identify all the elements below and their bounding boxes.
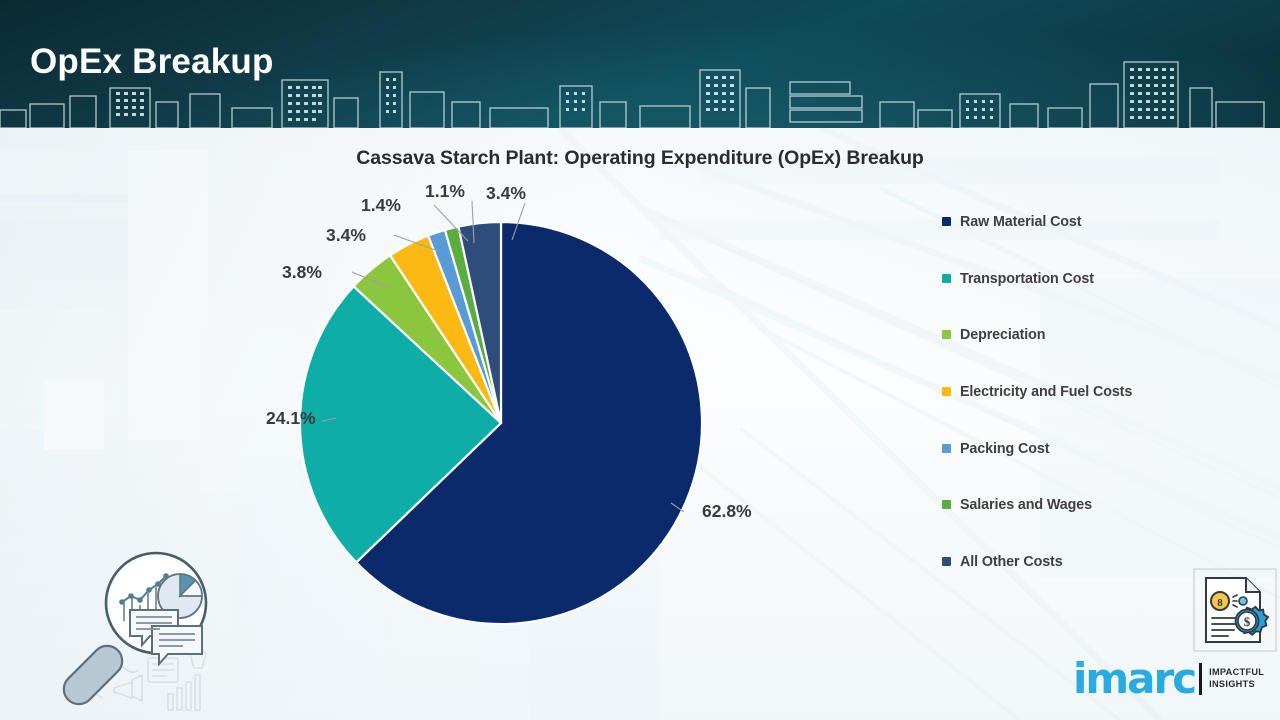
legend-item-label: Depreciation bbox=[960, 325, 1045, 346]
svg-text:8: 8 bbox=[1217, 597, 1223, 609]
legend-item[interactable]: Salaries and Wages bbox=[942, 495, 1152, 516]
legend-swatch-icon bbox=[942, 500, 951, 509]
legend-item[interactable]: All Other Costs bbox=[942, 552, 1152, 573]
logo-tagline: IMPACTFUL INSIGHTS bbox=[1209, 667, 1264, 690]
imarc-wordmark: imarc bbox=[1073, 662, 1195, 696]
pie-data-label: 24.1% bbox=[266, 408, 316, 428]
legend-swatch-icon bbox=[942, 274, 951, 283]
magnifier-analytics-icon bbox=[52, 548, 227, 720]
legend-item[interactable]: Transportation Cost bbox=[942, 269, 1152, 290]
slide-canvas: OpEx Breakup Cassava Starch Plant: Opera… bbox=[0, 0, 1280, 720]
pie-chart-svg: 62.8%24.1%3.8%3.4%1.4%1.1%3.4% bbox=[290, 185, 720, 655]
pie-data-label: 3.4% bbox=[486, 183, 526, 203]
legend-swatch-icon bbox=[942, 217, 951, 226]
document-cost-gear-icon: 8 $ bbox=[1193, 568, 1277, 652]
legend-item-label: Salaries and Wages bbox=[960, 495, 1092, 516]
logo-tagline-line2: INSIGHTS bbox=[1209, 679, 1264, 691]
pie-data-label: 1.4% bbox=[361, 195, 401, 215]
imarc-logo: imarc IMPACTFUL INSIGHTS bbox=[1073, 662, 1264, 696]
legend-item-label: All Other Costs bbox=[960, 552, 1063, 573]
pie-data-label: 3.8% bbox=[282, 262, 322, 282]
chart-title: Cassava Starch Plant: Operating Expendit… bbox=[0, 147, 1280, 170]
chart-legend: Raw Material CostTransportation CostDepr… bbox=[942, 212, 1152, 602]
legend-item[interactable]: Packing Cost bbox=[942, 439, 1152, 460]
legend-swatch-icon bbox=[942, 387, 951, 396]
page-title: OpEx Breakup bbox=[30, 44, 274, 79]
pie-slice-group bbox=[300, 222, 702, 624]
legend-item-label: Electricity and Fuel Costs bbox=[960, 382, 1132, 403]
legend-item-label: Raw Material Cost bbox=[960, 212, 1081, 233]
legend-swatch-icon bbox=[942, 557, 951, 566]
svg-text:$: $ bbox=[1244, 614, 1251, 629]
legend-item-label: Transportation Cost bbox=[960, 269, 1094, 290]
legend-item[interactable]: Raw Material Cost bbox=[942, 212, 1152, 233]
pie-data-label: 62.8% bbox=[702, 501, 752, 521]
legend-item[interactable]: Electricity and Fuel Costs bbox=[942, 382, 1152, 403]
legend-item[interactable]: Depreciation bbox=[942, 325, 1152, 346]
legend-swatch-icon bbox=[942, 444, 951, 453]
logo-tagline-line1: IMPACTFUL bbox=[1209, 667, 1264, 679]
pie-data-label: 3.4% bbox=[326, 225, 366, 245]
logo-divider bbox=[1199, 663, 1202, 695]
header-banner: OpEx Breakup bbox=[0, 0, 1280, 128]
legend-swatch-icon bbox=[942, 330, 951, 339]
pie-data-label: 1.1% bbox=[425, 181, 465, 201]
legend-item-label: Packing Cost bbox=[960, 439, 1049, 460]
pie-chart: 62.8%24.1%3.8%3.4%1.4%1.1%3.4% bbox=[290, 185, 720, 655]
